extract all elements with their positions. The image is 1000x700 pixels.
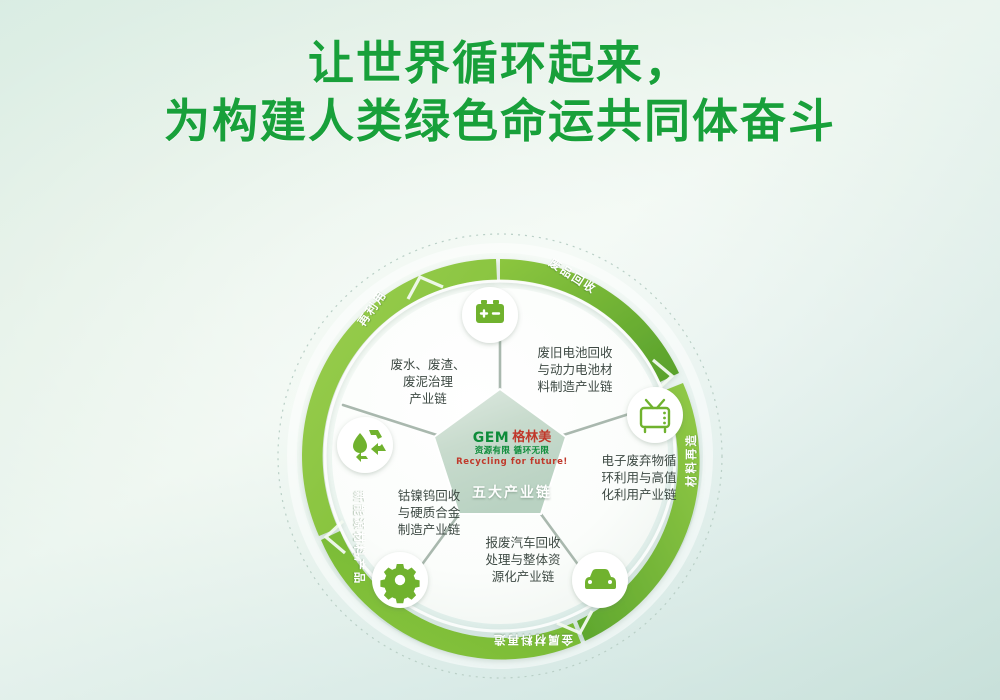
title-line-2: 为构建人类绿色命运共同体奋斗 xyxy=(0,92,1000,150)
battery-icon[interactable] xyxy=(462,287,518,343)
gear-icon[interactable] xyxy=(372,552,428,608)
title-line-1: 让世界循环起来， xyxy=(0,34,1000,92)
television-icon[interactable] xyxy=(627,387,683,443)
water-recycle-icon[interactable] xyxy=(337,417,393,473)
page-title: 让世界循环起来， 为构建人类绿色命运共同体奋斗 xyxy=(0,34,1000,150)
car-icon[interactable] xyxy=(572,552,628,608)
